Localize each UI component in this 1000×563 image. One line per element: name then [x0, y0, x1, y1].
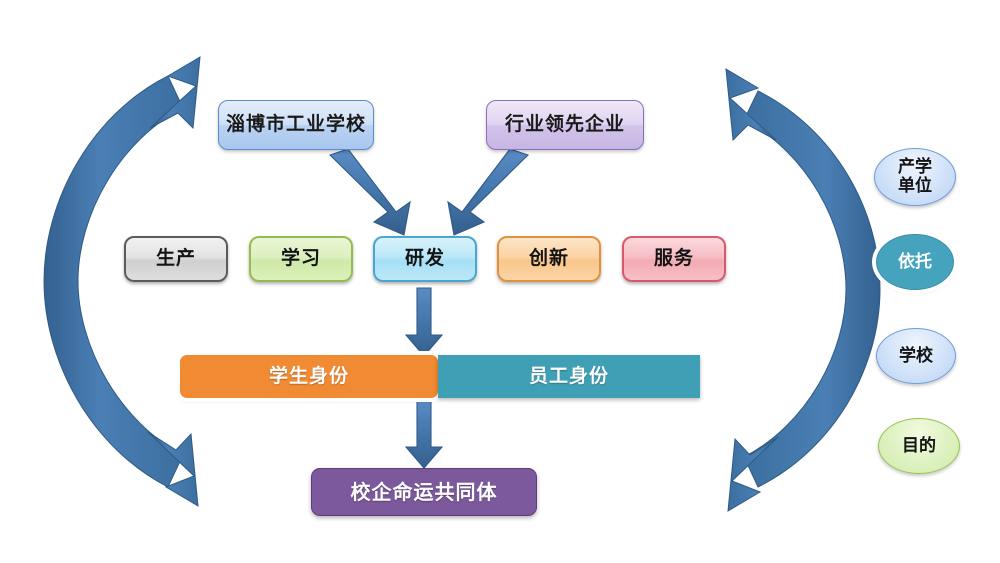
ellipse-rely[interactable]: 依托 — [876, 234, 954, 290]
chip-study[interactable]: 学习 — [249, 236, 353, 282]
school-to-rd-arrow-icon — [330, 149, 410, 235]
chip-rd[interactable]: 研发 — [373, 236, 477, 282]
diagram-canvas: 淄博市工业学校 行业领先企业 生产 学习 研发 创新 服务 学生身份 员工身份 … — [0, 0, 1000, 563]
bar-student-identity[interactable]: 学生身份 — [180, 355, 438, 398]
node-community[interactable]: 校企命运共同体 — [311, 468, 537, 516]
chip-innovate[interactable]: 创新 — [497, 236, 601, 282]
right-cycle-arc-icon — [726, 69, 880, 511]
node-company[interactable]: 行业领先企业 — [486, 100, 644, 150]
chip-produce[interactable]: 生产 — [124, 236, 228, 282]
node-school[interactable]: 淄博市工业学校 — [218, 100, 374, 150]
ellipse-school[interactable]: 学校 — [876, 328, 956, 384]
company-to-rd-arrow-icon — [448, 149, 528, 235]
identity-to-community-arrow-icon — [406, 400, 442, 468]
chip-service[interactable]: 服务 — [622, 236, 726, 282]
bar-employee-identity[interactable]: 员工身份 — [438, 355, 700, 398]
ellipse-unit-line1: 产学 — [898, 158, 932, 177]
ellipse-purpose[interactable]: 目的 — [878, 418, 960, 474]
rd-to-identity-arrow-icon — [406, 288, 442, 356]
ellipse-production-study-unit[interactable]: 产学 单位 — [874, 148, 956, 206]
ellipse-unit-line2: 单位 — [898, 177, 932, 196]
